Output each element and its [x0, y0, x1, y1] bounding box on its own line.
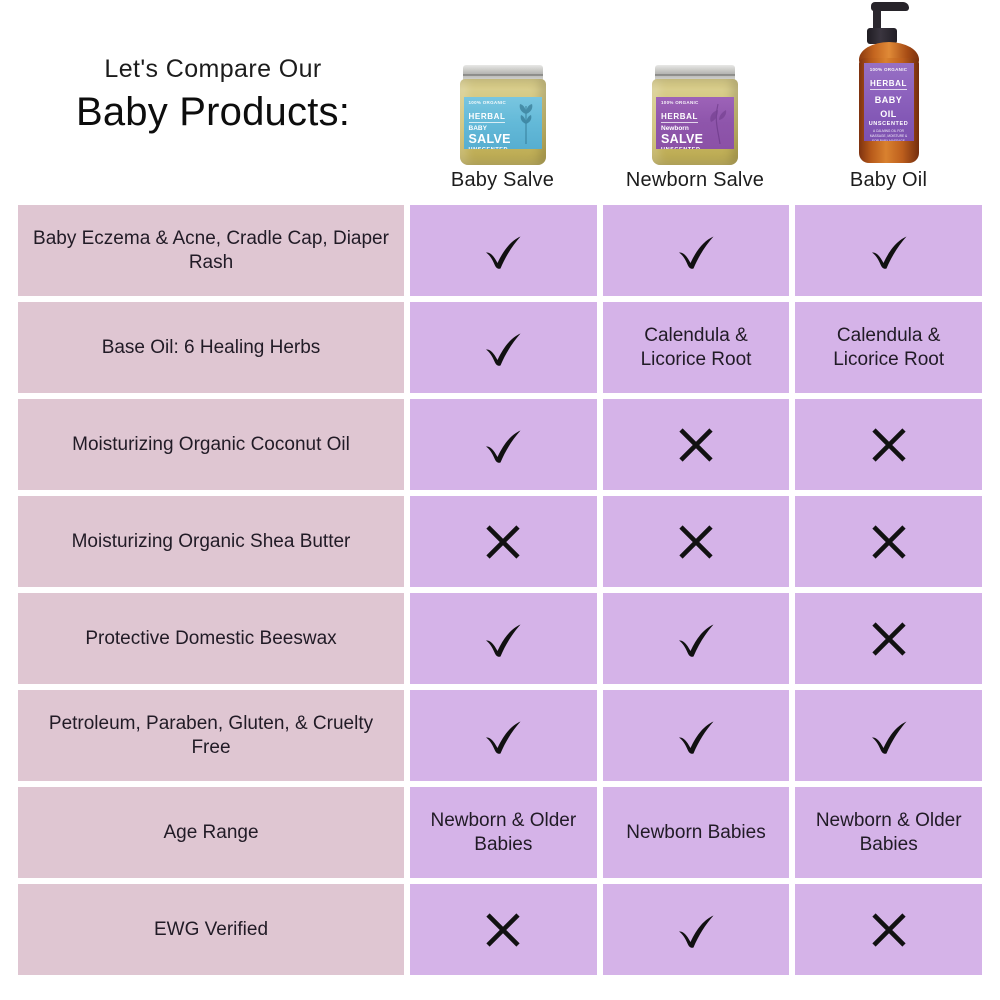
check-icon	[479, 227, 527, 275]
table-row: Baby Eczema & Acne, Cradle Cap, Diaper R…	[18, 205, 982, 296]
feature-cell: Petroleum, Paraben, Gluten, & Cruelty Fr…	[18, 690, 404, 781]
comparison-chart-page: Let's Compare Our Baby Products: 100% OR…	[0, 0, 1000, 1000]
product-column-baby-salve: 100% ORGANIC HERBAL BABY SALVE UNSCENTED…	[410, 0, 595, 205]
label-name-line-1: BABY	[868, 96, 910, 105]
value-cell	[603, 205, 790, 296]
bottle-label: 100% ORGANIC HERBAL BABY OIL UNSCENTED A…	[864, 63, 914, 141]
chart-header: Let's Compare Our Baby Products: 100% OR…	[0, 0, 1000, 205]
label-brand-top: 100% ORGANIC	[868, 67, 910, 73]
value-cell: Calendula & Licorice Root	[795, 302, 982, 393]
jar-body: 100% ORGANIC HERBAL BABY SALVE UNSCENTED…	[460, 79, 546, 165]
check-icon	[672, 906, 720, 954]
check-icon	[479, 615, 527, 663]
value-cell	[410, 496, 597, 587]
feature-cell: Baby Eczema & Acne, Cradle Cap, Diaper R…	[18, 205, 404, 296]
value-cell	[603, 399, 790, 490]
jar-lid	[463, 65, 543, 80]
value-cell	[603, 593, 790, 684]
value-cell	[795, 496, 982, 587]
feature-cell: Age Range	[18, 787, 404, 878]
cross-icon	[869, 910, 909, 950]
herb-sprig-icon	[708, 100, 728, 144]
label-variant: UNSCENTED	[661, 147, 729, 149]
value-cell	[603, 690, 790, 781]
value-cell: Calendula & Licorice Root	[603, 302, 790, 393]
cross-icon	[869, 522, 909, 562]
jar-label: 100% ORGANIC HERBAL Newborn SALVE UNSCEN…	[656, 97, 734, 149]
table-row: Moisturizing Organic Shea Butter	[18, 496, 982, 587]
page-title: Let's Compare Our Baby Products:	[18, 55, 408, 136]
value-cell: Newborn & Older Babies	[410, 787, 597, 878]
baby-oil-bottle-icon: 100% ORGANIC HERBAL BABY OIL UNSCENTED A…	[853, 2, 925, 165]
jar-lid	[655, 65, 735, 80]
table-row: Protective Domestic Beeswax	[18, 593, 982, 684]
feature-cell: Moisturizing Organic Shea Butter	[18, 496, 404, 587]
title-line-1: Let's Compare Our	[18, 55, 408, 84]
product-column-baby-oil: 100% ORGANIC HERBAL BABY OIL UNSCENTED A…	[795, 0, 982, 205]
check-icon	[865, 227, 913, 275]
product-label-baby-oil: Baby Oil	[795, 169, 982, 192]
jar-body: 100% ORGANIC HERBAL Newborn SALVE UNSCEN…	[652, 79, 738, 165]
feature-cell: Base Oil: 6 Healing Herbs	[18, 302, 404, 393]
product-image-newborn-salve: 100% ORGANIC HERBAL Newborn SALVE UNSCEN…	[602, 0, 788, 165]
value-cell	[795, 205, 982, 296]
baby-salve-jar-icon: 100% ORGANIC HERBAL BABY SALVE UNSCENTED…	[460, 65, 546, 165]
label-variant: UNSCENTED	[469, 147, 537, 149]
label-brand: HERBAL	[469, 113, 506, 124]
feature-cell: Moisturizing Organic Coconut Oil	[18, 399, 404, 490]
product-label-baby-salve: Baby Salve	[410, 169, 595, 192]
product-label-newborn-salve: Newborn Salve	[602, 169, 788, 192]
check-icon	[865, 712, 913, 760]
product-image-baby-oil: 100% ORGANIC HERBAL BABY OIL UNSCENTED A…	[795, 0, 982, 165]
label-name-line-2: OIL	[868, 110, 910, 119]
cross-icon	[869, 619, 909, 659]
table-row: EWG Verified	[18, 884, 982, 975]
label-brand: HERBAL	[661, 113, 698, 124]
check-icon	[672, 227, 720, 275]
cross-icon	[483, 522, 523, 562]
check-icon	[479, 421, 527, 469]
cross-icon	[483, 910, 523, 950]
comparison-table: Baby Eczema & Acne, Cradle Cap, Diaper R…	[18, 205, 982, 975]
table-row: Base Oil: 6 Healing HerbsCalendula & Lic…	[18, 302, 982, 393]
value-cell	[603, 884, 790, 975]
value-cell	[410, 302, 597, 393]
newborn-salve-jar-icon: 100% ORGANIC HERBAL Newborn SALVE UNSCEN…	[652, 65, 738, 165]
value-cell: Newborn Babies	[603, 787, 790, 878]
check-icon	[479, 324, 527, 372]
table-row: Moisturizing Organic Coconut Oil	[18, 399, 982, 490]
product-column-newborn-salve: 100% ORGANIC HERBAL Newborn SALVE UNSCEN…	[602, 0, 788, 205]
feature-cell: EWG Verified	[18, 884, 404, 975]
cross-icon	[676, 425, 716, 465]
label-variant: UNSCENTED	[868, 121, 910, 127]
cross-icon	[869, 425, 909, 465]
value-cell	[410, 399, 597, 490]
table-row: Petroleum, Paraben, Gluten, & Cruelty Fr…	[18, 690, 982, 781]
check-icon	[479, 712, 527, 760]
value-cell	[410, 690, 597, 781]
value-cell	[410, 205, 597, 296]
feature-cell: Protective Domestic Beeswax	[18, 593, 404, 684]
value-cell	[410, 593, 597, 684]
label-brand: HERBAL	[870, 80, 907, 91]
value-cell	[795, 884, 982, 975]
cross-icon	[676, 522, 716, 562]
table-row: Age RangeNewborn & Older BabiesNewborn B…	[18, 787, 982, 878]
label-fine-print: A CALMING OIL FOR MASSAGE, MOISTURE & FO…	[868, 129, 910, 141]
value-cell	[410, 884, 597, 975]
jar-label: 100% ORGANIC HERBAL BABY SALVE UNSCENTED…	[464, 97, 542, 149]
value-cell	[795, 399, 982, 490]
check-icon	[672, 712, 720, 760]
value-cell	[795, 690, 982, 781]
herb-sprig-icon	[516, 100, 536, 144]
title-line-2: Baby Products:	[18, 88, 408, 136]
bottle-body: 100% ORGANIC HERBAL BABY OIL UNSCENTED A…	[859, 58, 919, 163]
value-cell: Newborn & Older Babies	[795, 787, 982, 878]
check-icon	[672, 615, 720, 663]
product-image-baby-salve: 100% ORGANIC HERBAL BABY SALVE UNSCENTED…	[410, 0, 595, 165]
value-cell	[795, 593, 982, 684]
value-cell	[603, 496, 790, 587]
